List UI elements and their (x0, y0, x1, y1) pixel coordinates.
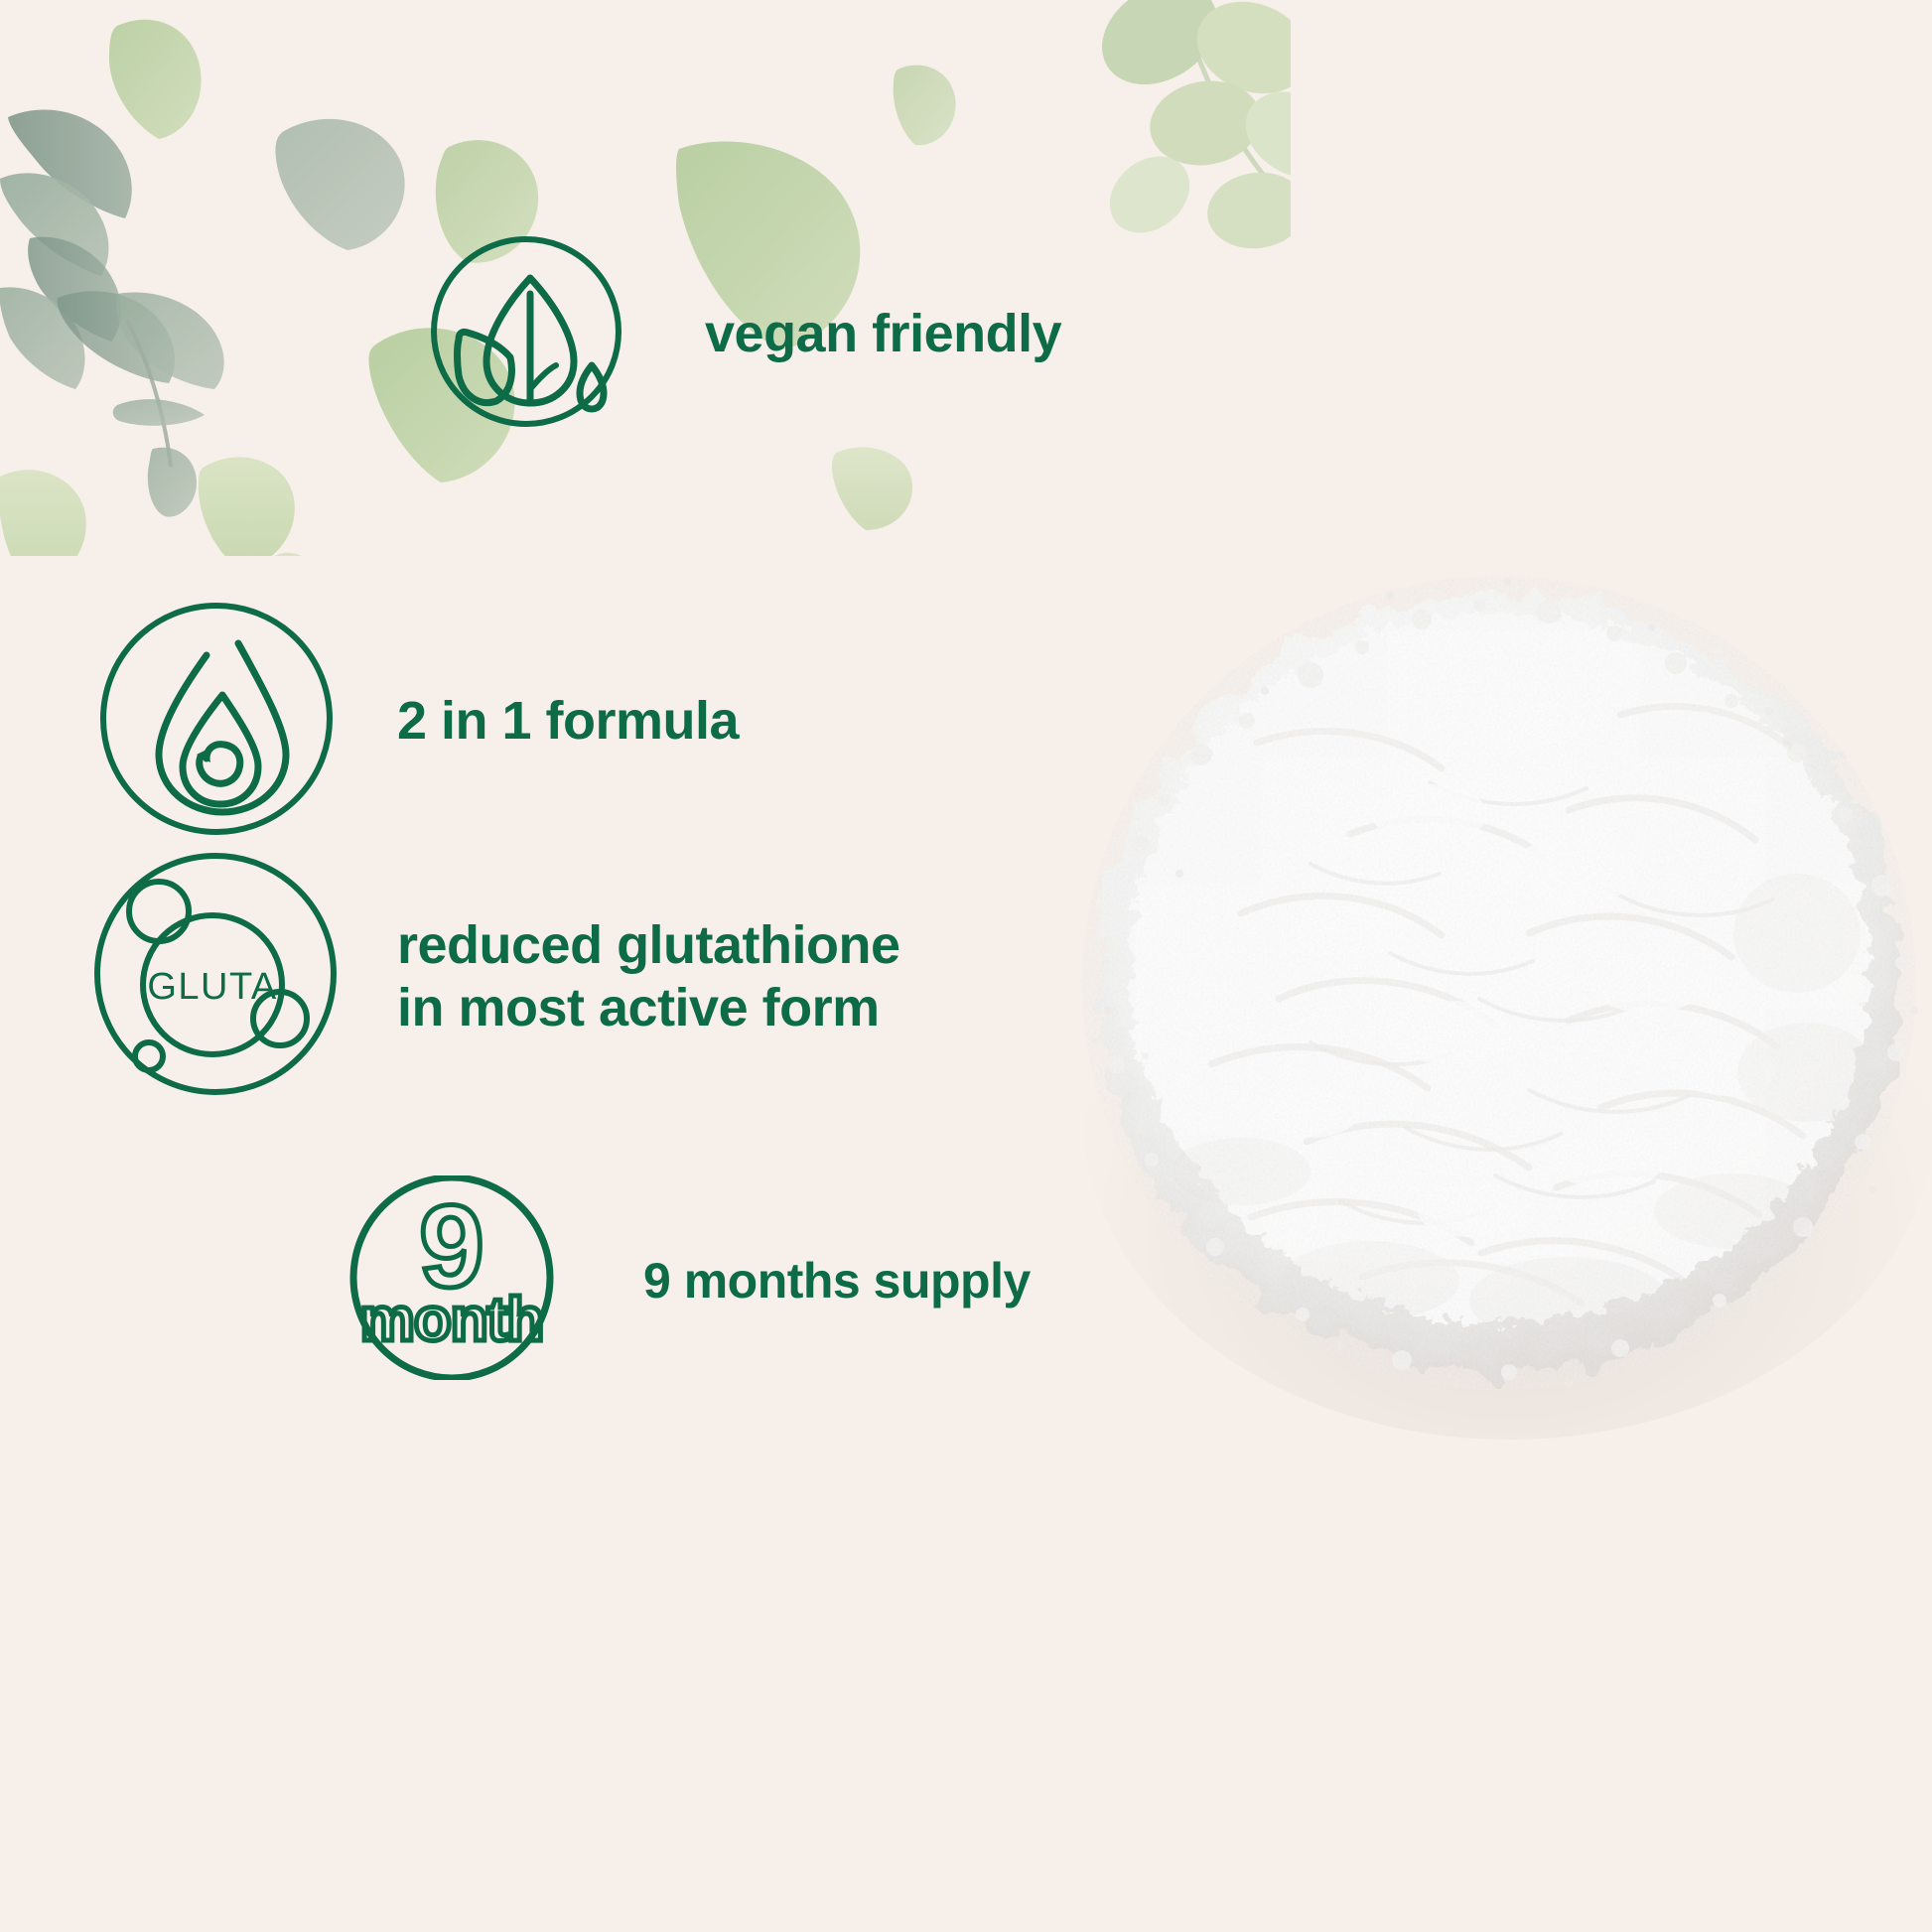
leaf-circle-icon (429, 234, 623, 434)
feature-label-gluta: reduced glutathione in most active form (397, 914, 900, 1038)
feature-nine-months-supply: 9 month 9 months supply (349, 1175, 1031, 1385)
feature-label-vegan: vegan friendly (705, 303, 1061, 365)
white-powder-pile-image (1013, 516, 1932, 1459)
gluta-molecule-circle-icon: GLUTA (91, 850, 340, 1103)
droplet-spiral-circle-icon (97, 600, 336, 843)
gluta-icon-label: GLUTA (147, 966, 277, 1008)
feature-label-formula: 2 in 1 formula (397, 690, 739, 753)
infographic-canvas: vegan friendly 2 in 1 formula (0, 0, 1932, 1932)
badge-word: month (360, 1286, 543, 1354)
feature-vegan-friendly: vegan friendly (429, 234, 1061, 434)
feature-two-in-one-formula: 2 in 1 formula (97, 600, 739, 843)
feature-reduced-glutathione: GLUTA reduced glutathione in most active… (91, 850, 900, 1103)
nine-month-badge-circle-icon: 9 month (349, 1175, 554, 1385)
feature-label-supply: 9 months supply (643, 1252, 1031, 1310)
